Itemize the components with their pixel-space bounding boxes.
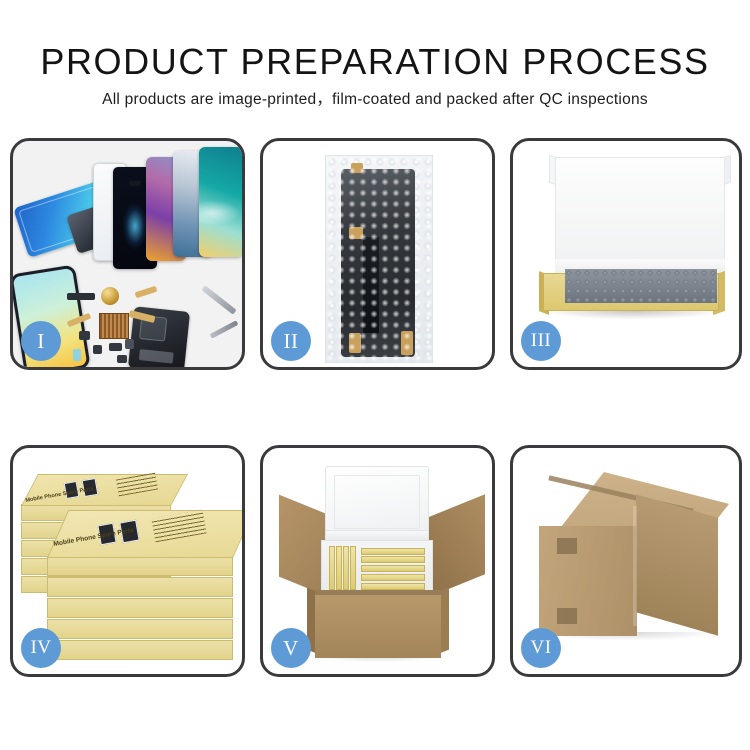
process-step-panel-6: VI: [510, 445, 742, 677]
yellow-box-flat-5: [361, 583, 425, 590]
bagged-flex-strip: [363, 237, 379, 333]
yellow-box-flat-3: [361, 565, 425, 572]
small-part-6: [117, 355, 127, 363]
yellow-box-upright-4: [350, 546, 356, 590]
rear-printed-box-lid: [21, 474, 188, 506]
small-part-5: [73, 349, 81, 361]
step-badge-3: III: [521, 321, 561, 361]
step-badge-4: IV: [21, 628, 61, 668]
yellow-box-upright-1: [329, 546, 335, 590]
yellow-box-flat-4: [361, 574, 425, 581]
front-stack-box-1: [47, 556, 233, 576]
front-stack-box-4: [47, 619, 233, 639]
foam-liner-lid: [325, 466, 429, 538]
flex-cable-a: [135, 286, 158, 299]
tweezers-tool: [201, 285, 236, 314]
small-part-1: [79, 331, 90, 340]
process-step-panel-2: II: [260, 138, 495, 370]
small-part-2: [93, 345, 102, 354]
bubble-wrapped-contents: [565, 269, 717, 303]
carton-front-face: [315, 590, 441, 658]
yellow-box-flat-2: [361, 556, 425, 563]
header: PRODUCT PREPARATION PROCESS All products…: [0, 40, 750, 110]
adhesive-tab-4: [401, 331, 413, 355]
flat-box-shadow: [549, 311, 717, 319]
product-preparation-process-page: PRODUCT PREPARATION PROCESS All products…: [0, 0, 750, 750]
process-steps-grid: I II: [10, 138, 742, 678]
step-badge-6: VI: [521, 628, 561, 668]
front-stack-box-3: [47, 598, 233, 618]
carton-tape-patch-top: [557, 538, 577, 554]
yellow-box-upright-2: [336, 546, 342, 590]
process-step-panel-1: I: [10, 138, 245, 370]
sealed-carton-front-face: [539, 526, 637, 636]
page-title: PRODUCT PREPARATION PROCESS: [0, 40, 750, 84]
step-badge-1: I: [21, 321, 61, 361]
carton-edge-highlight: [633, 506, 637, 626]
gold-speaker-part: [101, 287, 119, 305]
connector-grid-chip: [99, 313, 129, 339]
adhesive-tab-3: [349, 333, 361, 353]
process-step-panel-3: III: [510, 138, 742, 370]
front-stack-box-5: [47, 640, 233, 660]
process-step-panel-5: V: [260, 445, 495, 677]
process-step-panel-4: Mobile Phone Spare Parts Mobile Phone Sp…: [10, 445, 245, 677]
yellow-box-upright-3: [343, 546, 349, 590]
small-part-3: [109, 343, 122, 351]
vibration-motor-bar: [67, 293, 95, 300]
adhesive-tab-2: [349, 227, 363, 239]
carton-tape-patch-bottom: [557, 608, 577, 624]
yellow-box-flat-1: [361, 548, 425, 555]
adhesive-tab-1: [351, 163, 363, 173]
page-subtitle: All products are image-printed，film-coat…: [0, 90, 750, 110]
carton-flap-right: [427, 494, 485, 597]
screwdriver-tool: [210, 320, 239, 338]
step-badge-5: V: [271, 628, 311, 668]
phone-teal-gradient: [199, 147, 242, 257]
small-part-4: [125, 339, 134, 349]
white-foam-lid: [555, 157, 725, 273]
sealed-carton-side-face: [636, 494, 718, 636]
front-printed-box-lid: [47, 510, 242, 558]
step-badge-2: II: [271, 321, 311, 361]
front-stack-box-2: [47, 577, 233, 597]
